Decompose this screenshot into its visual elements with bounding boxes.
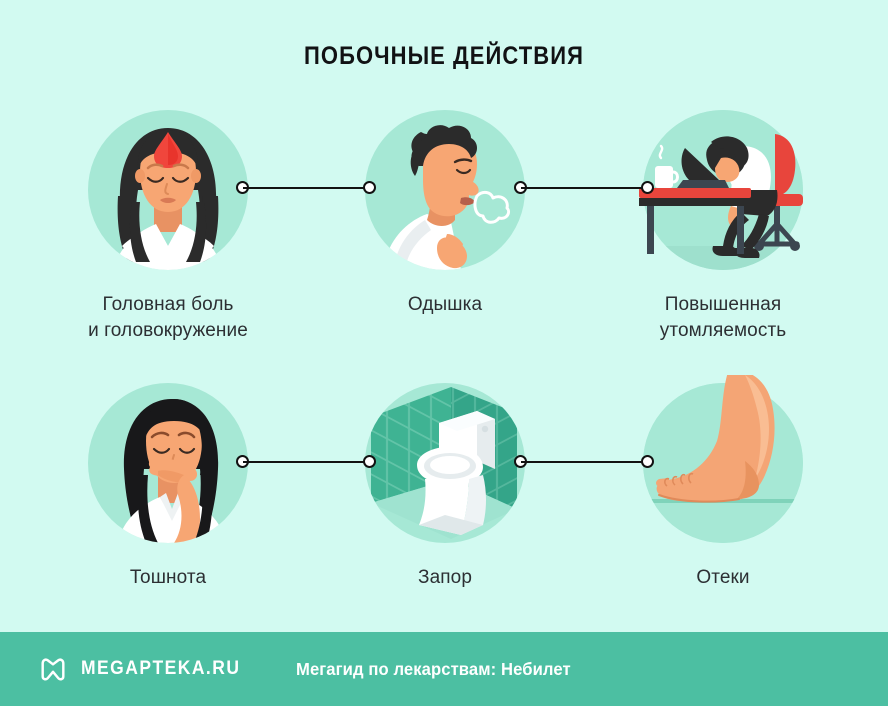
- bubble-constipation: [365, 383, 525, 543]
- caption-line-1: Тошнота: [130, 567, 206, 588]
- caption-line-2: и головокружение: [53, 318, 283, 344]
- infographic-page: ПОБОЧНЫЕ ДЕЙСТВИЯ: [0, 0, 888, 706]
- connector-dot-right: [363, 181, 376, 194]
- caption-line-1: Одышка: [408, 294, 482, 315]
- footer-tagline: Мегагид по лекарствам: Небилет: [296, 659, 571, 680]
- megapteka-m-logo-icon: [38, 654, 68, 684]
- connector-dot-right: [641, 455, 654, 468]
- woman-headache-icon: [88, 110, 248, 270]
- connector-line: [521, 187, 647, 189]
- caption-line-1: Отеки: [696, 567, 749, 588]
- caption-edema: Отеки: [608, 565, 838, 591]
- man-shortness-of-breath-icon: [365, 110, 525, 270]
- item-constipation: Запор: [330, 383, 560, 591]
- footer-brand[interactable]: MEGAPTEKA.RU: [81, 658, 240, 680]
- caption-line-2: утомляемость: [608, 318, 838, 344]
- caption-shortness-of-breath: Одышка: [330, 292, 560, 318]
- bubble-edema: [643, 383, 803, 543]
- connector-dot-right: [363, 455, 376, 468]
- connector-line: [243, 187, 369, 189]
- item-headache: Головная боль и головокружение: [53, 110, 283, 344]
- bubble-nausea: [88, 383, 248, 543]
- caption-line-1: Головная боль: [102, 294, 233, 315]
- caption-line-1: Запор: [418, 567, 472, 588]
- connector-3: [236, 455, 376, 469]
- bubble-shortness-of-breath: [365, 110, 525, 270]
- connector-2: [514, 181, 654, 195]
- connector-line: [243, 461, 369, 463]
- item-edema: Отеки: [608, 383, 838, 591]
- caption-constipation: Запор: [330, 565, 560, 591]
- caption-nausea: Тошнота: [53, 565, 283, 591]
- connector-1: [236, 181, 376, 195]
- woman-tired-at-desk-icon: [625, 96, 825, 286]
- woman-nausea-icon: [88, 383, 248, 543]
- caption-headache: Головная боль и головокружение: [53, 292, 283, 344]
- toilet-icon: [365, 383, 525, 543]
- bubble-fatigue: [643, 110, 803, 270]
- footer-bar: MEGAPTEKA.RU Мегагид по лекарствам: Неби…: [0, 632, 888, 706]
- item-fatigue: Повышенная утомляемость: [608, 110, 838, 344]
- page-title: ПОБОЧНЫЕ ДЕЙСТВИЯ: [53, 42, 834, 71]
- connector-line: [521, 461, 647, 463]
- swollen-foot-icon: [633, 375, 813, 550]
- item-shortness-of-breath: Одышка: [330, 110, 560, 318]
- connector-4: [514, 455, 654, 469]
- connector-dot-right: [641, 181, 654, 194]
- caption-line-1: Повышенная: [665, 294, 782, 315]
- item-nausea: Тошнота: [53, 383, 283, 591]
- bubble-headache: [88, 110, 248, 270]
- caption-fatigue: Повышенная утомляемость: [608, 292, 838, 344]
